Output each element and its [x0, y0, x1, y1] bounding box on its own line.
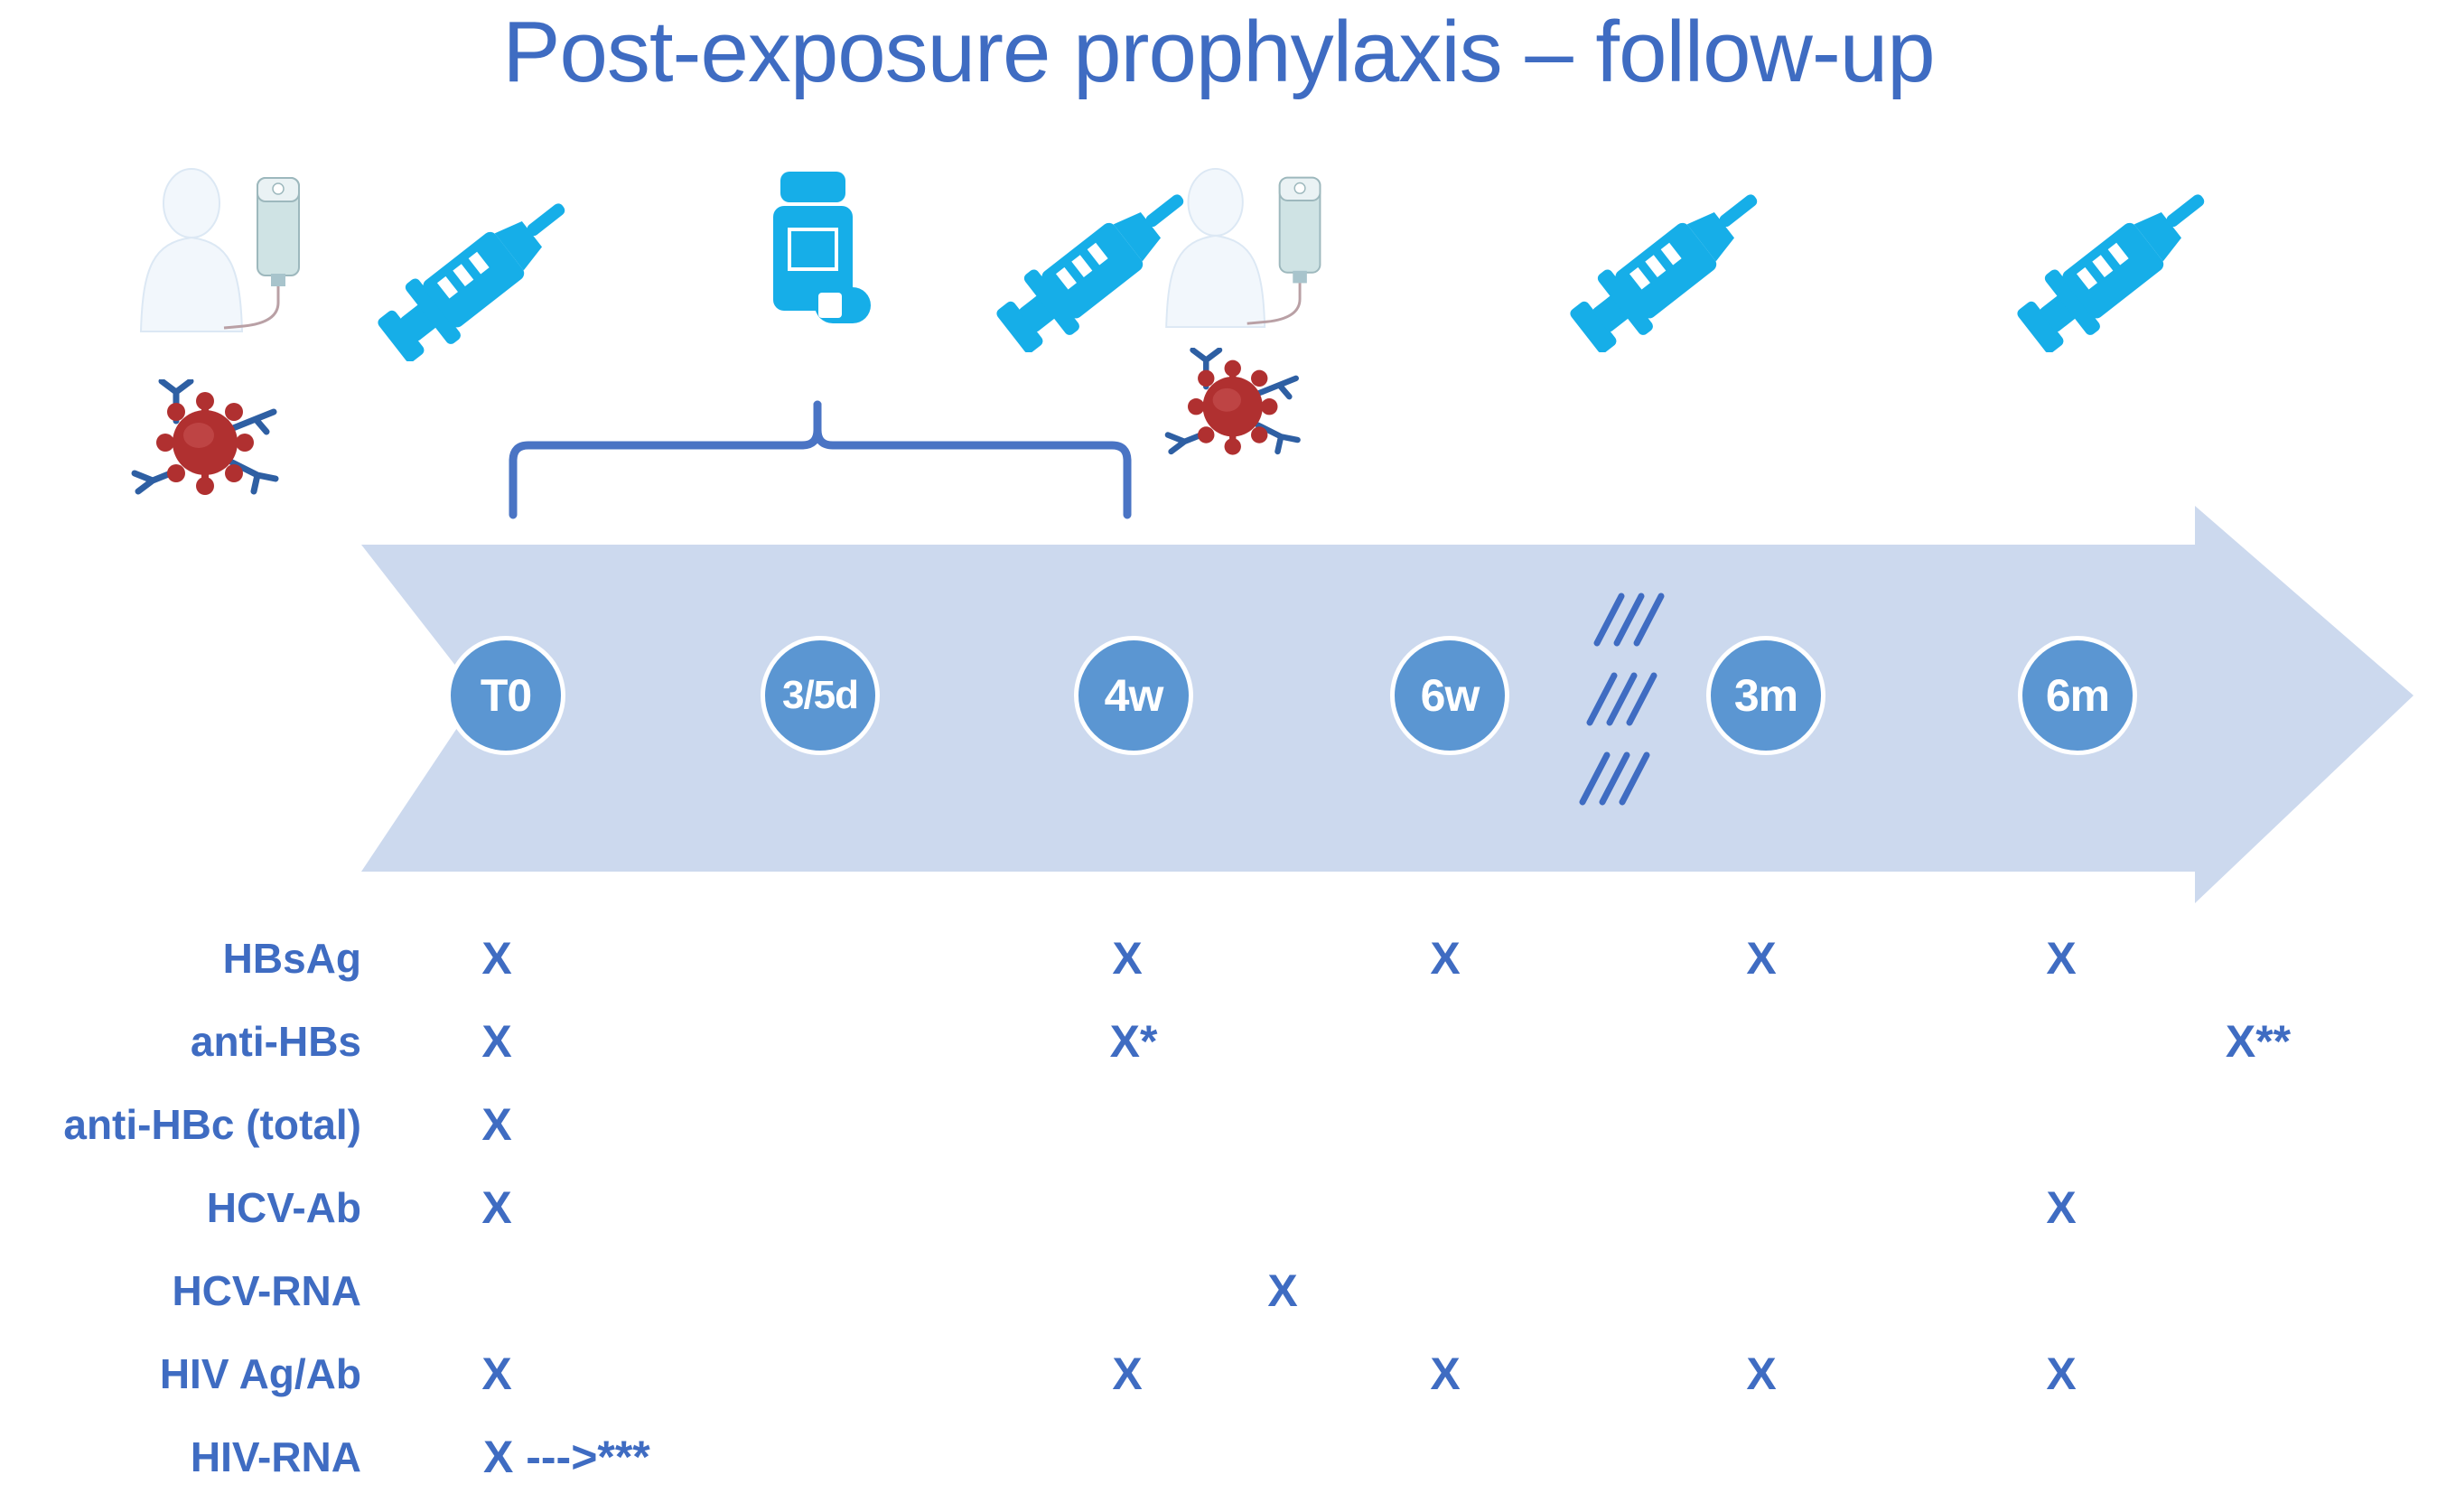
timeline-break-slashes — [1583, 596, 1661, 802]
test-mark: X — [481, 1097, 511, 1153]
test-mark: X — [1112, 1346, 1142, 1402]
test-mark: X — [481, 1013, 511, 1069]
test-mark: X** — [2226, 1013, 2291, 1069]
timeline-node-label: 3/5d — [782, 673, 858, 718]
test-mark: X — [2046, 930, 2076, 986]
timeline-node-3m[interactable]: 3m — [1706, 636, 1825, 755]
row-label-text: HCV-Ab — [207, 1180, 361, 1236]
test-mark: X — [1267, 1263, 1297, 1319]
timeline-node-label: 6m — [2046, 669, 2109, 722]
patient-iv-drip-icon — [135, 167, 325, 339]
timeline-node-label: T0 — [481, 669, 531, 722]
page-title: Post-exposure prophylaxis – follow-up — [0, 7, 2437, 98]
timeline-node-label: 6w — [1421, 669, 1480, 722]
test-mark: X --->*** — [483, 1429, 650, 1485]
row-label-text: HBsAg — [223, 930, 361, 986]
table-row: anti-HBc (total)X — [0, 1097, 2437, 1180]
medication-bottle-icon — [768, 172, 881, 339]
table-row: HIV-RNAX --->*** — [0, 1429, 2437, 1512]
slide-canvas: Post-exposure prophylaxis – follow-up — [0, 0, 2437, 1509]
syringe-icon-3 — [1549, 181, 1784, 357]
timeline-node-t0[interactable]: T0 — [446, 636, 565, 755]
test-mark: X — [2046, 1346, 2076, 1402]
test-mark: X — [481, 930, 511, 986]
row-label-text: HCV-RNA — [172, 1263, 361, 1319]
table-row: anti-HBsXX*X** — [0, 1013, 2437, 1097]
table-row: HCV-AbXX — [0, 1180, 2437, 1263]
test-mark: X — [481, 1180, 511, 1236]
timeline-node-4w[interactable]: 4w — [1074, 636, 1193, 755]
test-mark: X — [2046, 1180, 2076, 1236]
test-mark: X — [1430, 1346, 1460, 1402]
row-label-text: HIV-RNA — [191, 1429, 361, 1485]
timeline-node-label: 3m — [1734, 669, 1797, 722]
timeline-node-label: 4w — [1105, 669, 1163, 722]
syringe-icon-1 — [357, 190, 592, 366]
table-row: HCV-RNAX — [0, 1263, 2437, 1346]
table-row: HIV Ag/AbXXXXX — [0, 1346, 2437, 1429]
timeline-node-6w[interactable]: 6w — [1390, 636, 1509, 755]
timeline-node-6m[interactable]: 6m — [2018, 636, 2137, 755]
virus-antibody-icon-2 — [1156, 348, 1314, 474]
test-mark: X — [1746, 930, 1776, 986]
row-label-text: anti-HBc (total) — [63, 1097, 361, 1153]
table-row: HBsAgXXXXX — [0, 930, 2437, 1013]
row-label-text: anti-HBs — [191, 1013, 361, 1069]
syringe-icon-4 — [1996, 181, 2231, 357]
patient-iv-drip-icon-2 — [1161, 167, 1346, 334]
test-mark: X — [1430, 930, 1460, 986]
test-mark: X — [1746, 1346, 1776, 1402]
prophylaxis-duration-brace — [513, 405, 1127, 515]
virus-antibody-icon — [122, 379, 294, 515]
row-label-text: HIV Ag/Ab — [160, 1346, 361, 1402]
test-mark: X — [481, 1346, 511, 1402]
test-mark: X* — [1110, 1013, 1158, 1069]
timeline-node-35d[interactable]: 3/5d — [761, 636, 880, 755]
test-schedule-matrix: HBsAgXXXXXanti-HBsXX*X**anti-HBc (total)… — [0, 930, 2437, 1512]
test-mark: X — [1112, 930, 1142, 986]
